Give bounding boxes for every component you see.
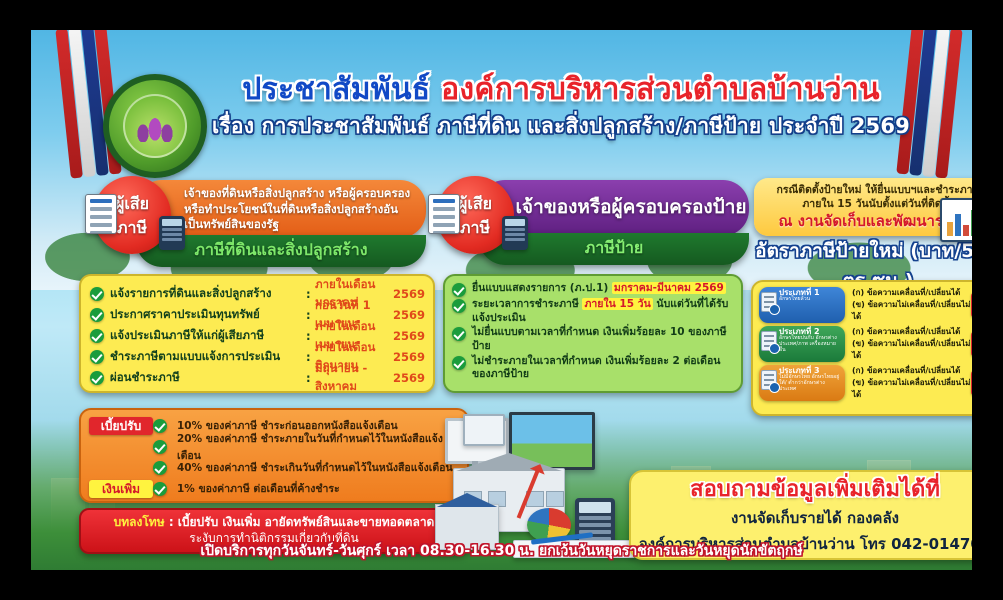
penalty-text: 1% ของค่าภาษี ต่อเดือนที่ค้างชำระ bbox=[173, 480, 340, 497]
sign-schedule-row: ระยะเวลาการชำระภาษี ภายใน 15 วัน นับแต่ว… bbox=[452, 298, 734, 325]
schedule-row-colon: : bbox=[306, 329, 315, 343]
sign-schedule-text: ระยะเวลาการชำระภาษี ภายใน 15 วัน นับแต่ว… bbox=[472, 298, 734, 325]
calculator-icon bbox=[502, 216, 528, 250]
schedule-row-label: ประกาศราคาประเมินทุนทรัพย์ bbox=[110, 306, 306, 324]
sign-type-3-conditions: (ก) ข้อความเคลื่อนที่/เปลี่ยนได้ (ข) ข้อ… bbox=[845, 365, 971, 401]
sign-type-2-sub: อักษรไทยปนกับ อักษรต่างประเทศ/ภาพ เครื่อ… bbox=[779, 336, 842, 353]
check-icon bbox=[90, 350, 104, 364]
check-icon bbox=[90, 371, 104, 385]
sign-schedule-row: ยื่นแบบแสดงรายการ (ภ.ป.1) มกราคม-มีนาคม … bbox=[452, 282, 734, 297]
sign-type-1-value-b: 5 bbox=[971, 305, 972, 317]
sign-type-2-condition-b: (ข) ข้อความไม่เคลื่อนที่/เปลี่ยนไม่ได้ bbox=[852, 338, 971, 362]
schedule-row-year: 2569 bbox=[391, 371, 425, 385]
poster-frame: ประชาสัมพันธ์ องค์การบริหารส่วนตำบลบ้านว… bbox=[31, 30, 972, 570]
tag-spacer bbox=[89, 459, 153, 477]
check-icon bbox=[153, 419, 167, 433]
schedule-row-colon: : bbox=[306, 308, 315, 322]
sign-schedule-pre: ระยะเวลาการชำระภาษี bbox=[472, 298, 582, 310]
schedule-row: ผ่อนชำระภาษี : มิถุนายน - สิงหาคม 2569 bbox=[90, 367, 425, 388]
sign-schedule-row: ไม่ชำระภายในเวลาที่กำหนด เงินเพิ่มร้อยละ… bbox=[452, 355, 734, 382]
sign-type-1-condition-b: (ข) ข้อความไม่เคลื่อนที่/เปลี่ยนไม่ได้ bbox=[852, 299, 971, 323]
sign-tax-schedule-panel: ยื่นแบบแสดงรายการ (ภ.ป.1) มกราคม-มีนาคม … bbox=[443, 274, 743, 393]
organization-logo bbox=[103, 74, 207, 178]
sign-type-3-value-a: 52 bbox=[971, 371, 972, 383]
sign-schedule-highlight: ภายใน 15 วัน bbox=[582, 298, 652, 310]
clipboard-check-icon bbox=[761, 370, 777, 390]
calculator-icon bbox=[159, 216, 185, 250]
tag-spacer bbox=[89, 438, 153, 456]
sign-type-3-condition-a: (ก) ข้อความเคลื่อนที่/เปลี่ยนได้ bbox=[852, 365, 971, 377]
sign-type-3-value-b: 50 bbox=[971, 383, 972, 395]
punishment-line1: บทลงโทษ : เบี้ยปรับ เงินเพิ่ม อายัดทรัพย… bbox=[81, 514, 467, 531]
notice-line1: กรณีติดตั้งป้ายใหม่ ให้ยื่นแบบฯและชำระภา… bbox=[754, 183, 972, 197]
schedule-row-label: ชำระภาษีตามแบบแจ้งการประเมิน bbox=[110, 348, 306, 366]
schedule-row-label: แจ้งรายการที่ดินและสิ่งปลูกสร้าง bbox=[110, 285, 306, 303]
sign-type-1-tag: ประเภทที่ 1 อักษรไทยล้วน bbox=[759, 287, 845, 323]
penalty-text: 40% ของค่าภาษี ชำระเกินวันที่กำหนดไว้ในห… bbox=[173, 459, 453, 476]
monitor-illustration bbox=[463, 414, 503, 484]
sign-schedule-highlight: มกราคม-มีนาคม 2569 bbox=[612, 282, 726, 294]
page-subtitle: เรื่อง การประชาสัมพันธ์ ภาษีที่ดิน และสิ… bbox=[201, 110, 921, 143]
schedule-row-colon: : bbox=[306, 287, 315, 301]
schedule-row-label: ผ่อนชำระภาษี bbox=[110, 369, 306, 387]
penalty-panel: เบี้ยปรับ 10% ของค่าภาษี ชำระก่อนออกหนัง… bbox=[79, 408, 469, 503]
schedule-row-label: แจ้งประเมินภาษีให้แก่ผู้เสียภาษี bbox=[110, 327, 306, 345]
document-icon bbox=[428, 194, 460, 234]
page-title-red: องค์การบริหารส่วนตำบลบ้านว่าน bbox=[441, 72, 880, 107]
sign-type-2-conditions: (ก) ข้อความเคลื่อนที่/เปลี่ยนได้ (ข) ข้อ… bbox=[845, 326, 971, 362]
land-tax-schedule-panel: แจ้งรายการที่ดินและสิ่งปลูกสร้าง : ภายใน… bbox=[79, 274, 435, 393]
taxpayer-land-description: เจ้าของที่ดินหรือสิ่งปลูกสร้าง หรือผู้คร… bbox=[184, 186, 416, 233]
check-icon bbox=[153, 461, 167, 475]
check-icon bbox=[90, 329, 104, 343]
sign-type-3-tag: ประเภทที่ 3 ไม่มีอักษรไทย อักษรไทยอยู่ใต… bbox=[759, 365, 845, 401]
sign-type-1-condition-a: (ก) ข้อความเคลื่อนที่/เปลี่ยนได้ bbox=[852, 287, 971, 299]
check-icon bbox=[452, 327, 466, 341]
sign-type-2-value-b: 26 bbox=[971, 344, 972, 356]
sign-schedule-text: ไม่ยื่นแบบตามเวลาที่กำหนด เงินเพิ่มร้อยล… bbox=[472, 326, 734, 353]
schedule-row-year: 2569 bbox=[391, 350, 425, 364]
clipboard-check-icon bbox=[761, 292, 777, 312]
sign-type-1-value-a: 10 bbox=[971, 293, 972, 305]
penalty-row: 40% ของค่าภาษี ชำระเกินวันที่กำหนดไว้ในห… bbox=[89, 457, 459, 478]
sign-rate-row: ประเภทที่ 1 อักษรไทยล้วน (ก) ข้อความเคลื… bbox=[759, 287, 972, 323]
logo-emblem-icon bbox=[135, 114, 175, 142]
check-icon bbox=[153, 440, 167, 454]
penalty-row: 20% ของค่าภาษี ชำระภายในวันที่กำหนดไว้ใน… bbox=[89, 436, 459, 457]
schedule-row-when: มิถุนายน - สิงหาคม bbox=[315, 360, 391, 396]
sign-schedule-pre: ยื่นแบบแสดงรายการ (ภ.ป.1) bbox=[472, 282, 612, 294]
punishment-text1: : เบี้ยปรับ เงินเพิ่ม อายัดทรัพย์สินและข… bbox=[165, 515, 435, 529]
sign-rate-table-panel: ประเภทที่ 1 อักษรไทยล้วน (ก) ข้อความเคลื… bbox=[751, 280, 972, 416]
check-icon bbox=[452, 283, 466, 297]
schedule-row-colon: : bbox=[306, 371, 315, 385]
schedule-row-year: 2569 bbox=[391, 287, 425, 301]
schedule-row-year: 2569 bbox=[391, 308, 425, 322]
monitor-screen-shape bbox=[463, 414, 505, 446]
page-title-blue: ประชาสัมพันธ์ bbox=[242, 72, 441, 107]
contact-heading: สอบถามข้อมูลเพิ่มเติมได้ที่ bbox=[631, 478, 972, 502]
sign-type-1-conditions: (ก) ข้อความเคลื่อนที่/เปลี่ยนได้ (ข) ข้อ… bbox=[845, 287, 971, 323]
clipboard-check-icon bbox=[761, 331, 777, 351]
sign-type-3-values: 52 50 bbox=[971, 370, 972, 396]
sign-rate-row: ประเภทที่ 3 ไม่มีอักษรไทย อักษรไทยอยู่ใต… bbox=[759, 365, 972, 401]
sign-type-1-sub: อักษรไทยล้วน bbox=[779, 297, 842, 303]
schedule-row-year: 2569 bbox=[391, 329, 425, 343]
sign-type-2-value-a: 52 bbox=[971, 332, 972, 344]
check-icon bbox=[452, 356, 466, 370]
sign-type-2-tag: ประเภทที่ 2 อักษรไทยปนกับ อักษรต่างประเท… bbox=[759, 326, 845, 362]
check-icon bbox=[153, 482, 167, 496]
window-shape bbox=[546, 491, 564, 507]
document-icon bbox=[85, 194, 117, 234]
contact-office: งานจัดเก็บรายได้ กองคลัง bbox=[631, 506, 972, 530]
check-icon bbox=[452, 299, 466, 313]
surcharge-tag: เงินเพิ่ม bbox=[89, 480, 153, 498]
sign-type-3-condition-b: (ข) ข้อความไม่เคลื่อนที่/เปลี่ยนไม่ได้ bbox=[852, 377, 971, 401]
sign-schedule-row: ไม่ยื่นแบบตามเวลาที่กำหนด เงินเพิ่มร้อยล… bbox=[452, 326, 734, 353]
bar-chart-icon bbox=[940, 198, 972, 242]
poster-canvas: ประชาสัมพันธ์ องค์การบริหารส่วนตำบลบ้านว… bbox=[0, 0, 1003, 600]
check-icon bbox=[90, 287, 104, 301]
sign-type-2-values: 52 26 bbox=[971, 331, 972, 357]
poster-header: ประชาสัมพันธ์ องค์การบริหารส่วนตำบลบ้านว… bbox=[31, 30, 972, 146]
sign-type-1-values: 10 5 bbox=[971, 292, 972, 318]
punishment-tag: บทลงโทษ bbox=[114, 515, 165, 529]
service-hours-footer: เปิดบริการทุกวันจันทร์-วันศุกร์ เวลา 08.… bbox=[31, 540, 972, 562]
sign-type-2-condition-a: (ก) ข้อความเคลื่อนที่/เปลี่ยนได้ bbox=[852, 326, 971, 338]
page-title: ประชาสัมพันธ์ องค์การบริหารส่วนตำบลบ้านว… bbox=[201, 74, 921, 106]
sign-type-3-sub: ไม่มีอักษรไทย อักษรไทยอยู่ใต้/ ต่ำกว่าอั… bbox=[779, 375, 842, 392]
schedule-row-colon: : bbox=[306, 350, 315, 364]
sign-rate-row: ประเภทที่ 2 อักษรไทยปนกับ อักษรต่างประเท… bbox=[759, 326, 972, 362]
penalty-row: เงินเพิ่ม 1% ของค่าภาษี ต่อเดือนที่ค้างช… bbox=[89, 478, 459, 499]
fine-tag: เบี้ยปรับ bbox=[89, 417, 153, 435]
sign-schedule-text: ไม่ชำระภายในเวลาที่กำหนด เงินเพิ่มร้อยละ… bbox=[472, 355, 734, 382]
sign-schedule-text: ยื่นแบบแสดงรายการ (ภ.ป.1) มกราคม-มีนาคม … bbox=[472, 282, 726, 296]
check-icon bbox=[90, 308, 104, 322]
